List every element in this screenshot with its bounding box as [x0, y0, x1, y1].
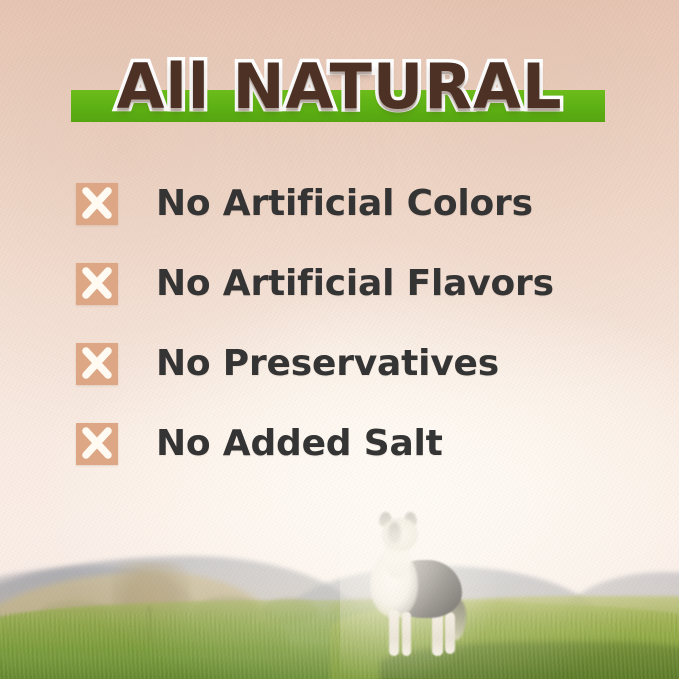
claim-item: No Artificial Colors [76, 183, 636, 225]
headline-banner: All NATURAL [0, 48, 679, 132]
x-mark-icon [76, 183, 118, 225]
dog-photo-subject [358, 512, 478, 664]
claims-list: No Artificial Colors No Artificial Flavo… [76, 183, 636, 465]
claim-label: No Added Salt [156, 423, 443, 465]
x-mark-icon [76, 263, 118, 305]
claim-item: No Preservatives [76, 343, 636, 385]
sun-glow [340, 502, 496, 678]
claim-label: No Artificial Colors [156, 183, 533, 225]
x-mark-icon [76, 423, 118, 465]
headline-text: All NATURAL [0, 48, 679, 126]
claim-item: No Added Salt [76, 423, 636, 465]
claim-label: No Preservatives [156, 343, 499, 385]
claim-label: No Artificial Flavors [156, 263, 554, 305]
x-mark-icon [76, 343, 118, 385]
claim-item: No Artificial Flavors [76, 263, 636, 305]
all-natural-product-graphic: All NATURAL No Artificial Colors No Arti… [0, 0, 679, 679]
